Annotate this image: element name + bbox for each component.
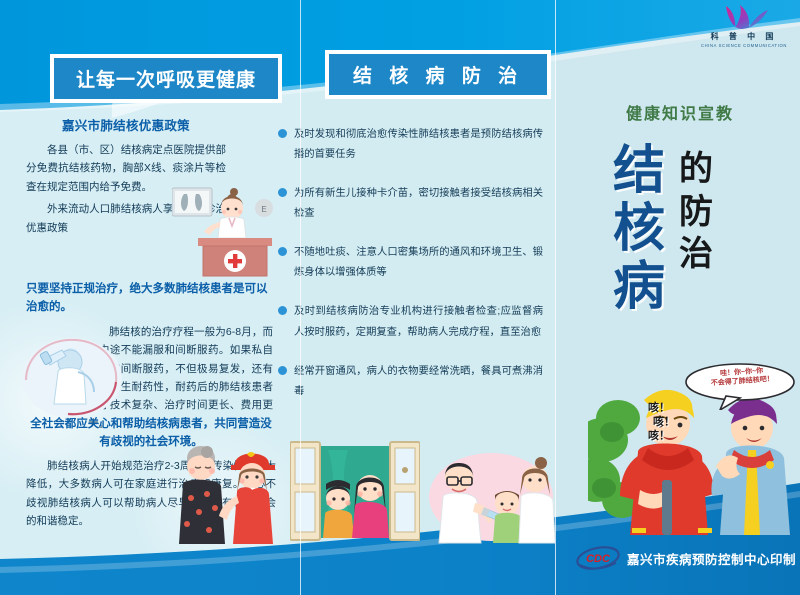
kepu-logo-cn-text: 科 普 中 国 — [696, 31, 792, 42]
bullet-dot-icon — [278, 366, 287, 375]
right-panel-subtitle: 健康知识宣教 — [560, 100, 800, 124]
cough-line: 咳！ — [648, 402, 675, 416]
page-title: 结核病 — [604, 142, 674, 317]
list-item: 及时到结核病防治专业机构进行接触者检查;应监督病人按时服药，定期复查，帮助病人完… — [278, 302, 543, 342]
left-panel-title-ribbon: 让每一次呼吸更健康 — [50, 54, 282, 103]
footer-text: 嘉兴市疾病预防控制中心印制 — [627, 549, 796, 568]
bullet-dot-icon — [278, 129, 287, 138]
kepu-logo-en-text: CHINA SCIENCE COMMUNICATION — [696, 43, 792, 48]
bullet-text: 及时发现和彻底治愈传染性肺结核患者是预防结核病传播的首要任务 — [294, 125, 543, 165]
panel-fold-line — [555, 0, 556, 595]
cough-line: 咳！ — [648, 430, 675, 444]
brochure-page: 科 普 中 国 CHINA SCIENCE COMMUNICATION 让每一次… — [0, 0, 800, 595]
bullet-text: 经常开窗通风，病人的衣物要经常洗晒，餐具可煮沸消毒 — [294, 362, 543, 402]
left-panel-title-text: 让每一次呼吸更健康 — [54, 58, 278, 99]
policy-heading: 嘉兴市肺结核优惠政策 — [26, 115, 226, 134]
list-item: 为所有新生儿接种卡介苗，密切接触者接受结核病相关检查 — [278, 184, 543, 224]
cough-sound-text: 咳！ 咳！ 咳！ — [648, 402, 675, 443]
cdc-logo: CDC — [576, 545, 620, 571]
person-taking-medicine-illustration — [18, 328, 126, 424]
cough-line: 咳！ — [653, 416, 675, 430]
two-women-care-illustration — [155, 440, 305, 550]
prevention-bullet-list: 及时发现和彻底治愈传染性肺结核患者是预防结核病传播的首要任务 为所有新生儿接种卡… — [278, 125, 543, 421]
bullet-dot-icon — [278, 306, 287, 315]
svg-text:E: E — [261, 205, 266, 214]
page-subtitle: 的防治 — [672, 148, 720, 276]
list-item: 不随地吐痰、注意人口密集场所的通风和环境卫生、锻炼身体以增强体质等 — [278, 243, 543, 283]
list-item: 经常开窗通风，病人的衣物要经常洗晒，餐具可煮沸消毒 — [278, 362, 543, 402]
doctor-at-desk-illustration: E — [172, 182, 284, 287]
bullet-text: 及时到结核病防治专业机构进行接触者检查;应监督病人按时服药，定期复查，帮助病人完… — [294, 302, 543, 342]
bullet-text: 不随地吐痰、注意人口密集场所的通风和环境卫生、锻炼身体以增强体质等 — [294, 243, 543, 283]
right-panel-title-block: 结核病 的防治 — [560, 142, 800, 392]
kepu-zhongguo-logo: 科 普 中 国 CHINA SCIENCE COMMUNICATION — [696, 4, 792, 48]
panel-fold-line — [300, 0, 301, 595]
svg-text:CDC: CDC — [586, 553, 611, 565]
open-window-ventilation-illustration — [290, 440, 420, 545]
right-panel-content: 健康知识宣教 结核病 的防治 — [560, 100, 800, 392]
middle-panel-title-text: 结 核 病 防 治 — [329, 54, 547, 95]
bullet-text: 为所有新生儿接种卡介苗，密切接触者接受结核病相关检查 — [294, 184, 543, 224]
middle-panel-title-ribbon: 结 核 病 防 治 — [325, 50, 551, 99]
list-item: 及时发现和彻底治愈传染性肺结核患者是预防结核病传播的首要任务 — [278, 125, 543, 165]
footer-brand: CDC 嘉兴市疾病预防控制中心印制 — [576, 545, 796, 571]
baby-vaccination-illustration — [425, 445, 555, 545]
